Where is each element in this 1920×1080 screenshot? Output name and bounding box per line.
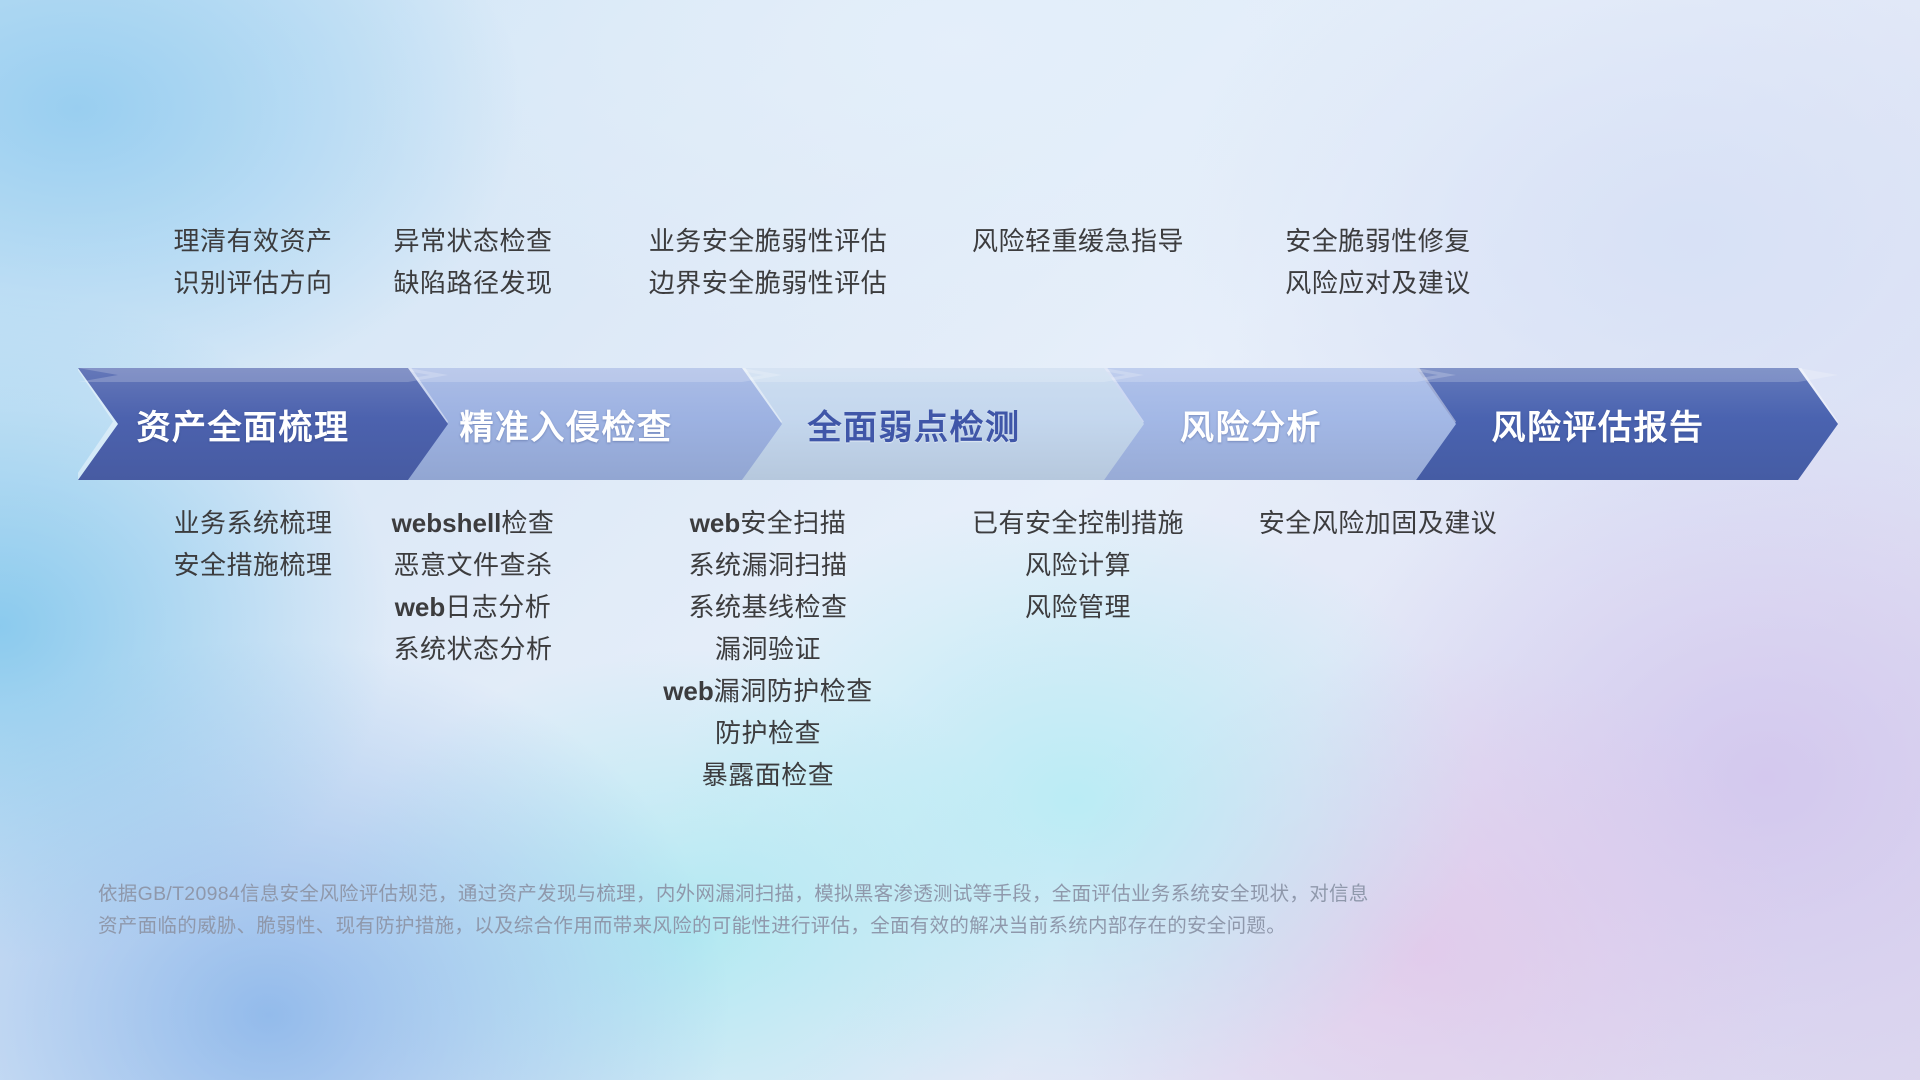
process-step-weakness-detection[interactable]: 全面弱点检测 [724, 368, 1144, 480]
caption-line: 恶意文件查杀 [393, 552, 552, 578]
caption-line: 业务安全脆弱性评估 [649, 228, 888, 254]
caption-line: 漏洞验证 [715, 636, 821, 662]
process-step-risk-report[interactable]: 风险评估报告 [1398, 368, 1838, 480]
footer-description: 依据GB/T20984信息安全风险评估规范，通过资产发现与梳理，内外网漏洞扫描，… [98, 878, 1618, 942]
caption-bold-prefix: web [395, 592, 446, 622]
caption-bold-prefix: web [690, 508, 741, 538]
caption-line: 安全脆弱性修复 [1285, 228, 1471, 254]
process-step-label: 精准入侵检查 [460, 400, 673, 449]
caption-column-above-weakness-detection: 业务安全脆弱性评估边界安全脆弱性评估 [649, 228, 888, 296]
process-step-label: 风险分析 [1180, 400, 1322, 449]
process-step-asset-inventory[interactable]: 资产全面梳理 [78, 368, 448, 480]
caption-column-above-risk-report: 安全脆弱性修复风险应对及建议 [1285, 228, 1471, 296]
caption-line: 业务系统梳理 [173, 510, 332, 536]
caption-line: 风险轻重缓急指导 [972, 228, 1184, 254]
caption-line: 系统基线检查 [688, 594, 847, 620]
caption-column-below-asset-inventory: 业务系统梳理安全措施梳理 [173, 510, 332, 578]
caption-line: 安全风险加固及建议 [1259, 510, 1498, 536]
process-step-label: 资产全面梳理 [137, 400, 350, 449]
caption-line: 暴露面检查 [702, 762, 835, 788]
caption-bold-prefix: web [663, 676, 714, 706]
caption-column-below-risk-report: 安全风险加固及建议 [1259, 510, 1498, 536]
process-step-label: 全面弱点检测 [808, 400, 1021, 449]
caption-line: 识别评估方向 [173, 270, 332, 296]
caption-line: 风险管理 [1025, 594, 1131, 620]
process-chevron-band: 资产全面梳理精准入侵检查全面弱点检测风险分析风险评估报告 [78, 368, 1848, 480]
caption-line: 系统漏洞扫描 [688, 552, 847, 578]
caption-line: webshell检查 [392, 510, 555, 536]
footer-line-1: 依据GB/T20984信息安全风险评估规范，通过资产发现与梳理，内外网漏洞扫描，… [98, 878, 1618, 910]
process-step-label: 风险评估报告 [1492, 400, 1705, 449]
caption-line: 异常状态检查 [393, 228, 552, 254]
caption-line: 防护检查 [715, 720, 821, 746]
caption-column-below-intrusion-check: webshell检查恶意文件查杀web日志分析系统状态分析 [392, 510, 555, 662]
caption-column-above-risk-analysis: 风险轻重缓急指导 [972, 228, 1184, 254]
caption-line: 安全措施梳理 [173, 552, 332, 578]
footer-line-2: 资产面临的威胁、脆弱性、现有防护措施，以及综合作用而带来风险的可能性进行评估，全… [98, 910, 1618, 942]
slide-canvas: 理清有效资产识别评估方向异常状态检查缺陷路径发现业务安全脆弱性评估边界安全脆弱性… [0, 0, 1920, 1080]
caption-line: web漏洞防护检查 [663, 678, 873, 704]
caption-bold-prefix: webshell [392, 508, 502, 538]
caption-column-below-weakness-detection: web安全扫描系统漏洞扫描系统基线检查漏洞验证web漏洞防护检查防护检查暴露面检… [663, 510, 873, 788]
caption-column-below-risk-analysis: 已有安全控制措施风险计算风险管理 [972, 510, 1184, 620]
caption-line: 理清有效资产 [173, 228, 332, 254]
caption-line: 已有安全控制措施 [972, 510, 1184, 536]
caption-line: web日志分析 [395, 594, 552, 620]
caption-line: 风险计算 [1025, 552, 1131, 578]
caption-column-above-intrusion-check: 异常状态检查缺陷路径发现 [393, 228, 552, 296]
process-step-intrusion-check[interactable]: 精准入侵检查 [390, 368, 782, 480]
caption-line: web安全扫描 [690, 510, 847, 536]
caption-line: 边界安全脆弱性评估 [649, 270, 888, 296]
caption-line: 风险应对及建议 [1285, 270, 1471, 296]
caption-line: 系统状态分析 [393, 636, 552, 662]
caption-column-above-asset-inventory: 理清有效资产识别评估方向 [173, 228, 332, 296]
caption-line: 缺陷路径发现 [393, 270, 552, 296]
